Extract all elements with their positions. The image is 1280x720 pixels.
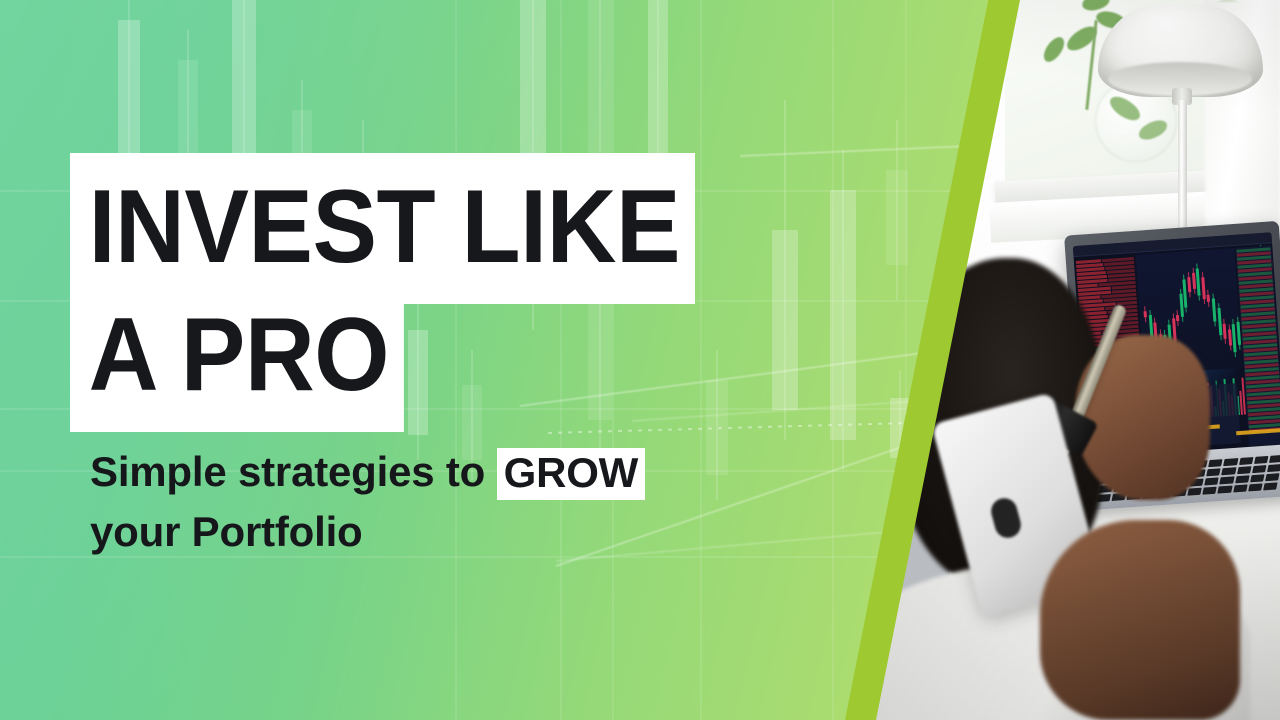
terminal-side-panel xyxy=(1235,245,1280,446)
keyboard-key xyxy=(1220,476,1235,484)
terminal-candle xyxy=(1192,273,1196,289)
subtitle-line-2: your Portfolio xyxy=(90,504,363,561)
hero-banner: INVEST LIKE A PRO Simple strategies to G… xyxy=(0,0,1280,720)
keyboard-key xyxy=(1223,458,1238,466)
subtitle-highlight-grow: GROW xyxy=(497,448,646,500)
keyboard-key xyxy=(1269,455,1280,463)
terminal-candle xyxy=(1212,298,1217,322)
headline-line-2: A PRO xyxy=(70,281,404,432)
keyboard-key xyxy=(1233,484,1248,492)
terminal-candle xyxy=(1228,329,1232,346)
keyboard-key xyxy=(1202,487,1217,495)
keyboard-key xyxy=(1235,475,1250,483)
terminal-candle xyxy=(1196,268,1201,296)
terminal-candle xyxy=(1217,308,1222,335)
keyboard-key xyxy=(1206,468,1221,476)
terminal-candle xyxy=(1223,324,1227,339)
keyboard-key xyxy=(1254,456,1269,464)
terminal-candle xyxy=(1274,259,1279,283)
keyboard-key xyxy=(1204,477,1219,485)
terminal-candle xyxy=(1176,315,1179,322)
keyboard-key xyxy=(1239,457,1254,465)
person-hand-holding-phone xyxy=(1040,520,1240,720)
keyboard-key xyxy=(1252,465,1267,473)
keyboard-key xyxy=(1218,486,1233,494)
terminal-candle xyxy=(1187,277,1191,292)
keyboard-key xyxy=(1221,467,1236,475)
keyboard-key xyxy=(1263,482,1278,490)
keyboard-key xyxy=(1248,483,1263,491)
terminal-candle xyxy=(1144,311,1147,317)
keyboard-key xyxy=(1187,488,1202,496)
subtitle-line-1: Simple strategies to GROW xyxy=(90,444,645,501)
keyboard-key xyxy=(1250,474,1265,482)
keyboard-key xyxy=(1208,459,1223,467)
keyboard-key xyxy=(1267,464,1280,472)
subtitle-text-pre: Simple strategies to xyxy=(90,448,497,495)
keyboard-key xyxy=(1237,466,1252,474)
terminal-candle xyxy=(1207,295,1210,302)
terminal-candle xyxy=(1201,277,1206,300)
keyboard-key xyxy=(1265,473,1280,481)
